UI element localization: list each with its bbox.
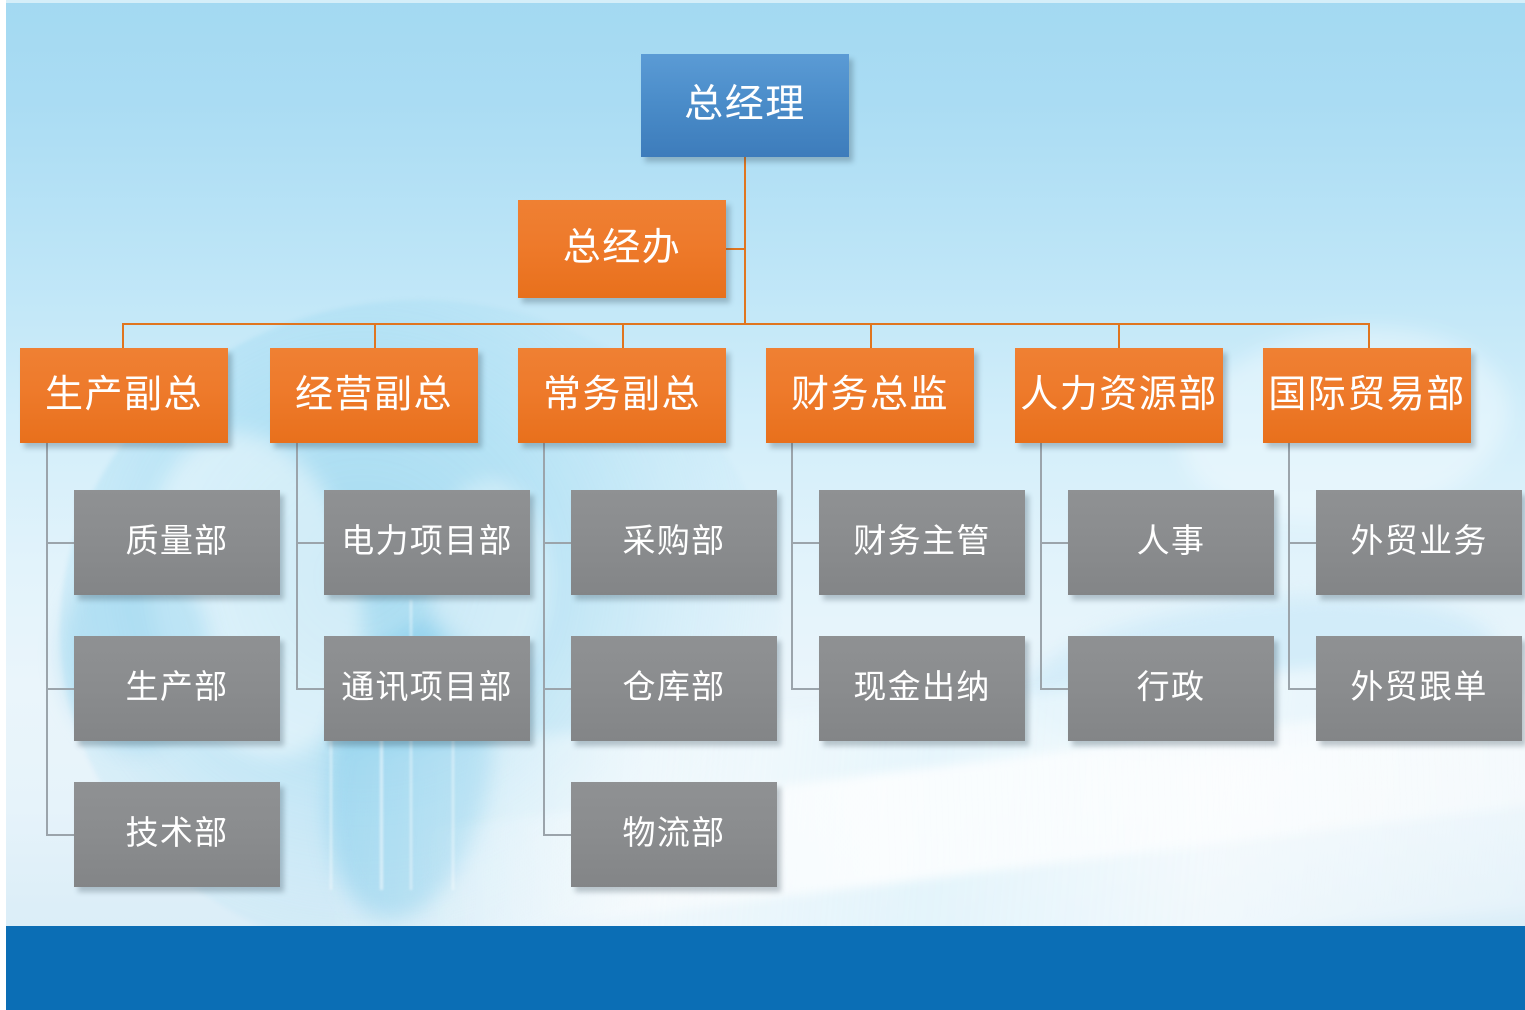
node-leaf-0-0[interactable]: 质量部 — [74, 490, 280, 595]
connector-leaf-spine — [46, 443, 48, 835]
connector-leaf-branch — [791, 688, 821, 690]
node-leaf-0-2[interactable]: 技术部 — [74, 782, 280, 887]
connector-leaf-branch — [46, 542, 76, 544]
node-staff-office[interactable]: 总经办 — [518, 200, 726, 298]
connector-root-trunk — [744, 157, 746, 324]
top-frame-border — [0, 0, 1525, 3]
connector-division-drop — [622, 323, 624, 349]
node-division-1[interactable]: 经营副总 — [270, 348, 478, 443]
node-leaf-3-1[interactable]: 现金出纳 — [819, 636, 1025, 741]
connector-leaf-branch — [1288, 542, 1318, 544]
connector-leaf-spine — [296, 443, 298, 689]
bottom-color-bar — [0, 926, 1525, 1010]
node-division-2[interactable]: 常务副总 — [518, 348, 726, 443]
node-division-5[interactable]: 国际贸易部 — [1263, 348, 1471, 443]
node-leaf-5-1[interactable]: 外贸跟单 — [1316, 636, 1522, 741]
connector-leaf-spine — [1040, 443, 1042, 689]
node-leaf-2-2[interactable]: 物流部 — [571, 782, 777, 887]
connector-leaf-branch — [296, 542, 326, 544]
node-leaf-5-0[interactable]: 外贸业务 — [1316, 490, 1522, 595]
connector-leaf-branch — [296, 688, 326, 690]
connector-leaf-branch — [543, 834, 573, 836]
connector-leaf-branch — [543, 542, 573, 544]
connector-leaf-branch — [543, 688, 573, 690]
connector-leaf-branch — [791, 542, 821, 544]
node-division-4[interactable]: 人力资源部 — [1015, 348, 1223, 443]
left-frame-border — [0, 0, 6, 1010]
connector-leaf-branch — [46, 834, 76, 836]
node-root[interactable]: 总经理 — [641, 54, 849, 157]
connector-leaf-branch — [46, 688, 76, 690]
node-leaf-1-0[interactable]: 电力项目部 — [324, 490, 530, 595]
node-leaf-2-1[interactable]: 仓库部 — [571, 636, 777, 741]
node-leaf-1-1[interactable]: 通讯项目部 — [324, 636, 530, 741]
connector-division-bus — [122, 323, 1370, 325]
connector-leaf-spine — [1288, 443, 1290, 689]
node-leaf-3-0[interactable]: 财务主管 — [819, 490, 1025, 595]
connector-division-drop — [1368, 323, 1370, 349]
connector-leaf-spine — [543, 443, 545, 835]
connector-leaf-spine — [791, 443, 793, 689]
connector-division-drop — [374, 323, 376, 349]
connector-division-drop — [1118, 323, 1120, 349]
connector-leaf-branch — [1288, 688, 1318, 690]
node-leaf-2-0[interactable]: 采购部 — [571, 490, 777, 595]
org-chart-canvas: 总经理 总经办 生产副总 经营副总 常务副总 财务总监 人力资源部 国际贸易部 … — [0, 0, 1525, 1010]
node-division-0[interactable]: 生产副总 — [20, 348, 228, 443]
connector-division-drop — [122, 323, 124, 349]
node-leaf-4-0[interactable]: 人事 — [1068, 490, 1274, 595]
connector-staff-stub — [724, 248, 746, 250]
connector-division-drop — [870, 323, 872, 349]
node-leaf-4-1[interactable]: 行政 — [1068, 636, 1274, 741]
node-leaf-0-1[interactable]: 生产部 — [74, 636, 280, 741]
connector-leaf-branch — [1040, 542, 1070, 544]
node-division-3[interactable]: 财务总监 — [766, 348, 974, 443]
connector-leaf-branch — [1040, 688, 1070, 690]
